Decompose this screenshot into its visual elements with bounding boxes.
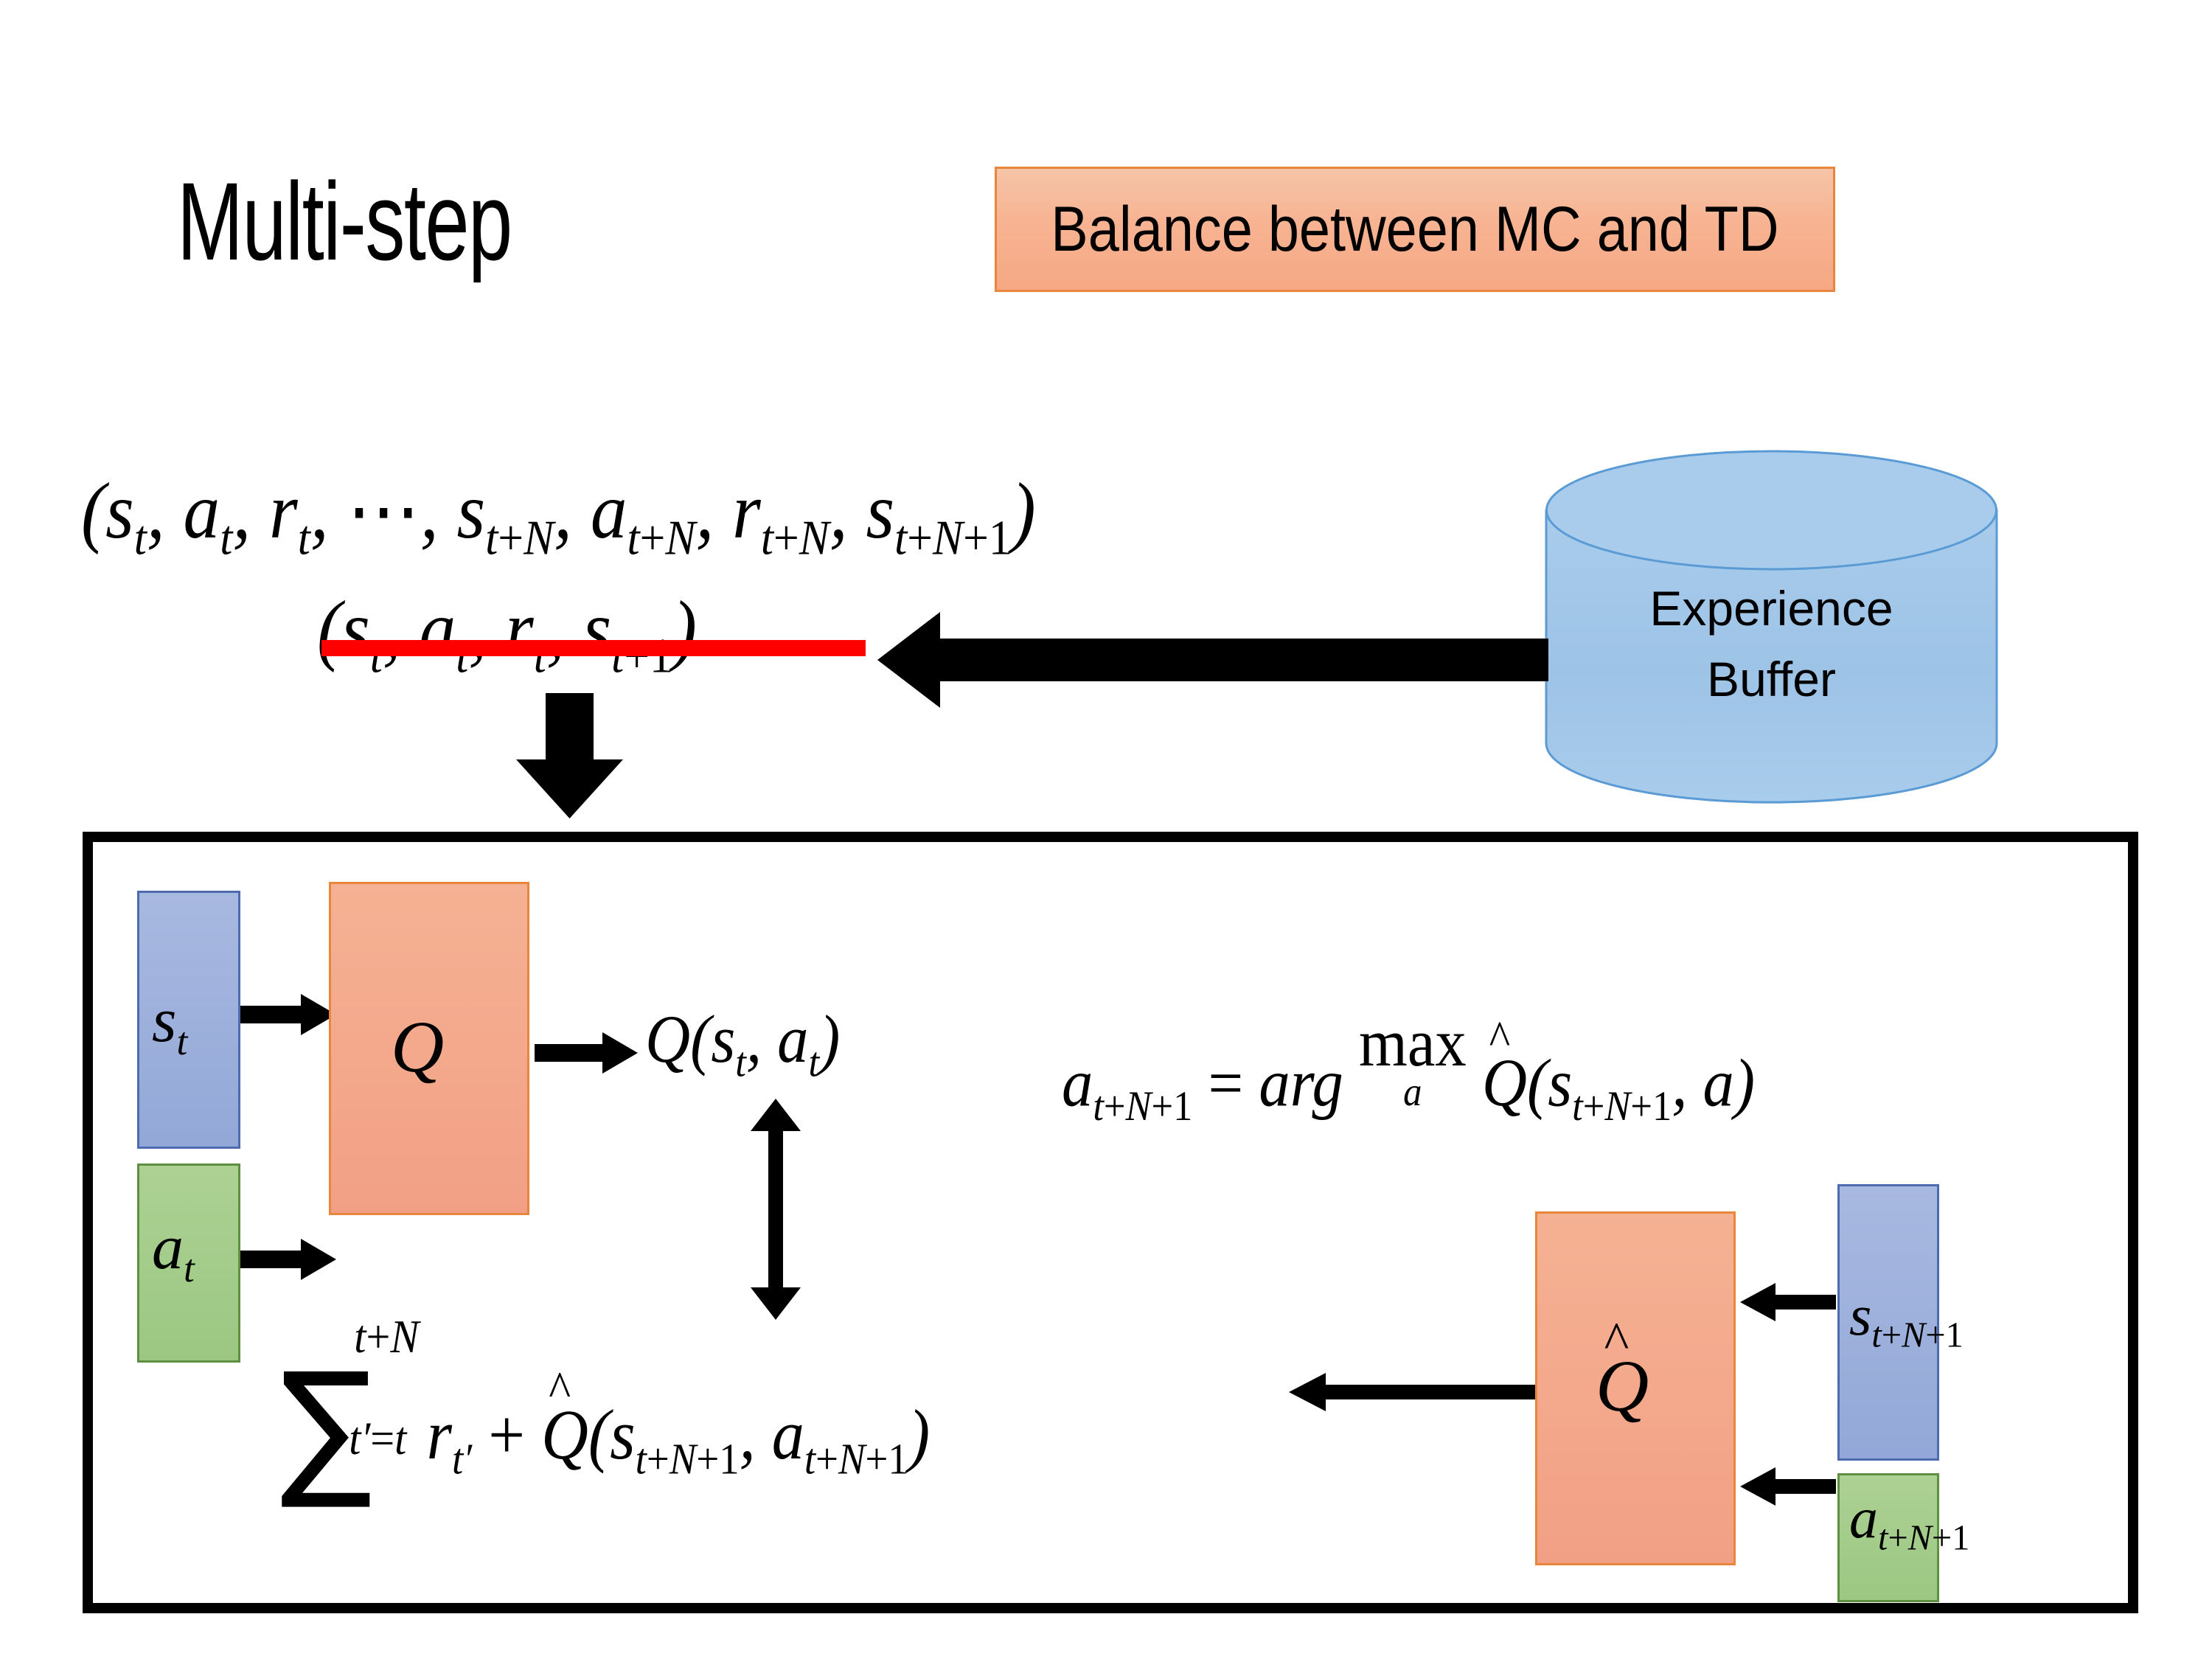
callout-banner-label: Balance between MC and TD <box>1051 193 1778 266</box>
state-input-label-target: st+N+1 <box>1849 1287 1964 1354</box>
action-input-label-target: at+N+1 <box>1849 1489 1969 1557</box>
right-arrow-icon-action-online <box>240 1239 336 1280</box>
down-arrow-icon <box>516 693 623 818</box>
buffer-line-1: Experience <box>1545 574 1998 644</box>
single-step-tuple: (st, at, rt, st+1) <box>317 590 697 681</box>
target-value-expression: ∑t+Nt′=trt′ + Q^(st+N+1, at+N+1) <box>280 1368 930 1490</box>
online-q-output-expression: Q(st, at) <box>645 1005 840 1083</box>
experience-buffer-cylinder: Experience Buffer <box>1545 450 1998 804</box>
online-network-label: Q <box>391 1010 444 1084</box>
buffer-line-2: Buffer <box>1545 644 1998 715</box>
left-arrow-icon-state-target <box>1740 1283 1836 1321</box>
left-arrow-icon-target-output <box>1289 1373 1540 1411</box>
experience-buffer-label: Experience Buffer <box>1545 574 1998 714</box>
left-arrow-icon-action-target <box>1740 1467 1836 1506</box>
page-title: Multi-step <box>177 166 512 276</box>
left-arrow-icon <box>877 612 1548 708</box>
strikethrough-marker <box>321 640 866 656</box>
callout-banner: Balance between MC and TD <box>995 167 1835 292</box>
policy-equation: at+N+1 = arg maxa Q^(st+N+1, a) <box>1062 1009 1755 1127</box>
target-network-label: Q^ <box>1596 1349 1649 1423</box>
multi-step-tuple: (st, at, rt, ⋯, st+N, at+N, rt+N, st+N+1… <box>81 472 1036 563</box>
double-headed-vertical-arrow-icon <box>751 1099 801 1320</box>
right-arrow-icon-online-output <box>535 1032 638 1074</box>
right-arrow-icon-state-online <box>240 994 336 1035</box>
state-input-label-online: st <box>152 988 187 1062</box>
action-input-label-online: at <box>152 1215 195 1289</box>
